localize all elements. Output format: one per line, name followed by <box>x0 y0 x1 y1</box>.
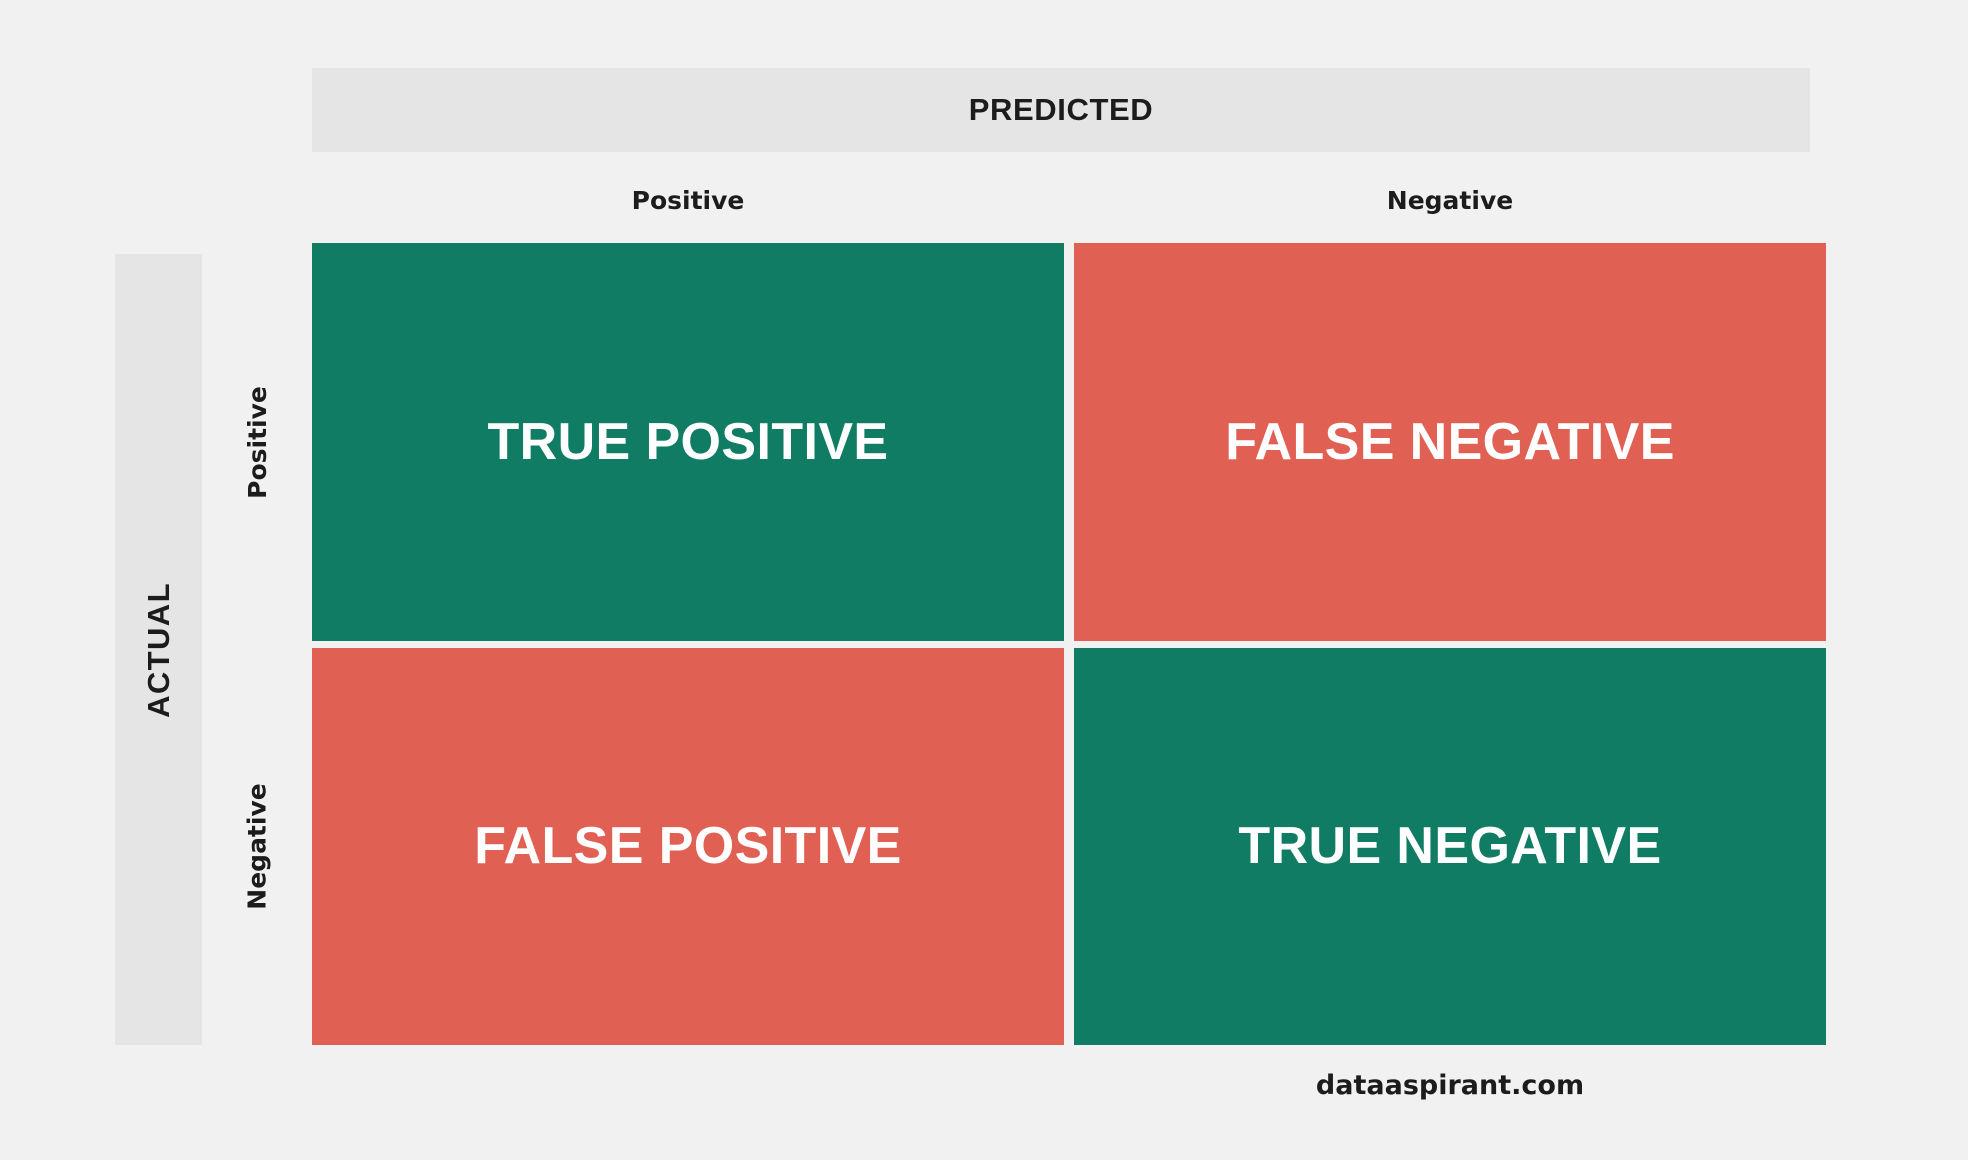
matrix-cell-false-positive: FALSE POSITIVE <box>312 648 1064 1045</box>
predicted-axis-label: PREDICTED <box>969 92 1154 128</box>
matrix-cell-true-negative: TRUE NEGATIVE <box>1074 648 1826 1045</box>
actual-axis-band: ACTUAL <box>115 254 202 1045</box>
predicted-column-label-positive-text: Positive <box>632 186 745 215</box>
actual-row-label-negative: Negative <box>212 648 302 1045</box>
predicted-axis-band: PREDICTED <box>312 68 1810 152</box>
predicted-column-label-negative: Negative <box>1074 182 1826 218</box>
source-watermark: dataaspirant.com <box>1074 1062 1826 1108</box>
matrix-cell-true-negative-label: TRUE NEGATIVE <box>1238 819 1661 874</box>
confusion-matrix-diagram: PREDICTED Positive Negative ACTUAL Posit… <box>0 0 1968 1160</box>
actual-row-label-positive: Positive <box>212 243 302 641</box>
actual-axis-label: ACTUAL <box>141 582 177 718</box>
actual-row-label-positive-text: Positive <box>243 386 272 499</box>
actual-row-label-negative-text: Negative <box>243 783 272 909</box>
matrix-cell-false-negative: FALSE NEGATIVE <box>1074 243 1826 641</box>
matrix-cell-true-positive: TRUE POSITIVE <box>312 243 1064 641</box>
predicted-column-label-negative-text: Negative <box>1387 186 1513 215</box>
matrix-cell-false-negative-label: FALSE NEGATIVE <box>1225 415 1675 470</box>
predicted-column-label-positive: Positive <box>312 182 1064 218</box>
matrix-cell-true-positive-label: TRUE POSITIVE <box>487 415 888 470</box>
matrix-cell-false-positive-label: FALSE POSITIVE <box>474 819 901 874</box>
